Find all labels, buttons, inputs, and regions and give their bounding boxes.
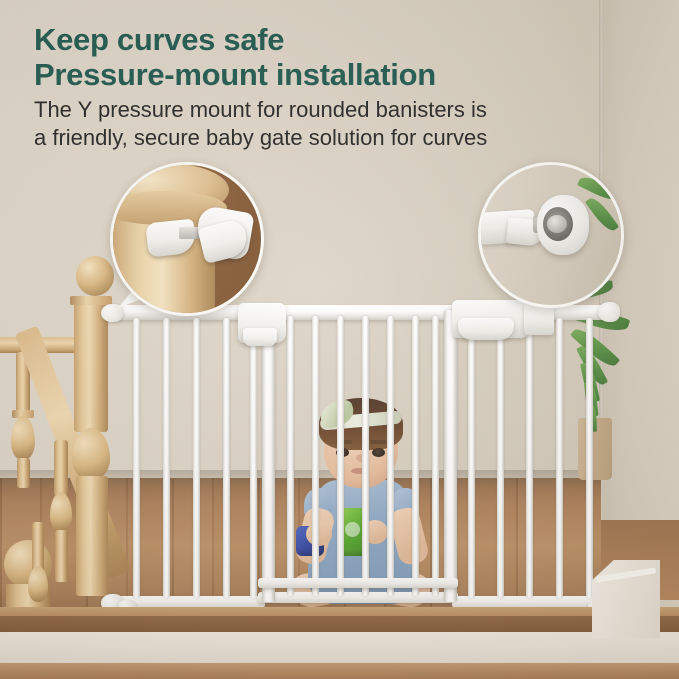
gate-door-bar: [432, 316, 439, 596]
gate-door-bar: [337, 316, 344, 596]
gate-door-bar: [312, 316, 319, 596]
gate-bar: [468, 318, 475, 598]
banister-baluster-front-lower: [55, 530, 68, 582]
gate-bar: [586, 318, 593, 598]
gate-latch-left-lower[interactable]: [243, 328, 277, 346]
gate-bar: [223, 318, 230, 598]
gate-bar: [526, 318, 533, 598]
gate-bar: [250, 318, 257, 598]
gate-bar: [556, 318, 563, 598]
baby-eye-right: [372, 448, 385, 457]
headline-line-1: Keep curves safe: [34, 22, 654, 57]
gate-bar: [193, 318, 200, 598]
gate-door-bar: [362, 316, 369, 596]
callout-bolt-head: [547, 215, 567, 233]
banister-baluster-rear-lower: [17, 458, 30, 488]
banister-urn-rear: [11, 416, 35, 460]
product-infographic: Keep curves safe Pressure-mount installa…: [0, 0, 679, 679]
gate-door-stile-left: [262, 310, 275, 602]
gate-bar: [497, 318, 504, 598]
subhead-line-2: a friendly, secure baby gate solution fo…: [34, 124, 634, 152]
baby-hand-left: [306, 522, 332, 546]
gate-bar: [163, 318, 170, 598]
page-subtitle: The Y pressure mount for rounded baniste…: [34, 96, 634, 152]
baby-eyebrow-right: [370, 440, 386, 444]
headline-line-2: Pressure-mount installation: [34, 57, 654, 92]
gate-door-bar: [412, 316, 419, 596]
right-callout: [478, 162, 624, 308]
pressure-mount-top-right: [598, 302, 620, 322]
gate-door-threshold: [258, 578, 458, 588]
gate-door-stile-right: [444, 310, 457, 602]
banister-baluster-front: [54, 440, 68, 496]
banister-post-collar: [70, 296, 112, 305]
banister-ball-finial-main: [76, 256, 114, 296]
stair-tread-nosing: [0, 616, 679, 633]
banister-baluster-front2: [32, 522, 44, 572]
banister-baluster-urn2: [28, 566, 48, 602]
subhead-line-1: The Y pressure mount for rounded baniste…: [34, 96, 634, 124]
left-callout: [110, 162, 264, 316]
gate-handle-right-lobe[interactable]: [458, 318, 514, 340]
banister-newel-post: [74, 300, 108, 432]
banister-post-lower: [76, 476, 108, 596]
banister-baluster-urn: [50, 492, 72, 532]
page-title: Keep curves safe Pressure-mount installa…: [34, 22, 654, 92]
gate-door-bar: [387, 316, 394, 596]
stair-riser: [0, 632, 679, 664]
gate-bar: [133, 318, 140, 598]
stair-tread-lower: [0, 663, 679, 679]
gate-door-bar: [287, 316, 294, 596]
